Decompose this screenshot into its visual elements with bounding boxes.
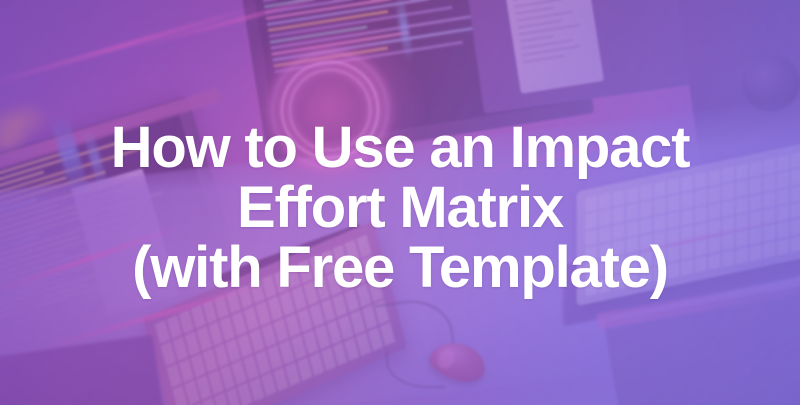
title-line-2: Effort Matrix <box>237 178 563 238</box>
title-line-1: How to Use an Impact <box>111 118 690 178</box>
article-header-banner: How to Use an Impact Effort Matrix (with… <box>0 0 800 405</box>
title-line-3: (with Free Template) <box>132 238 668 298</box>
banner-title: How to Use an Impact Effort Matrix (with… <box>0 0 800 405</box>
